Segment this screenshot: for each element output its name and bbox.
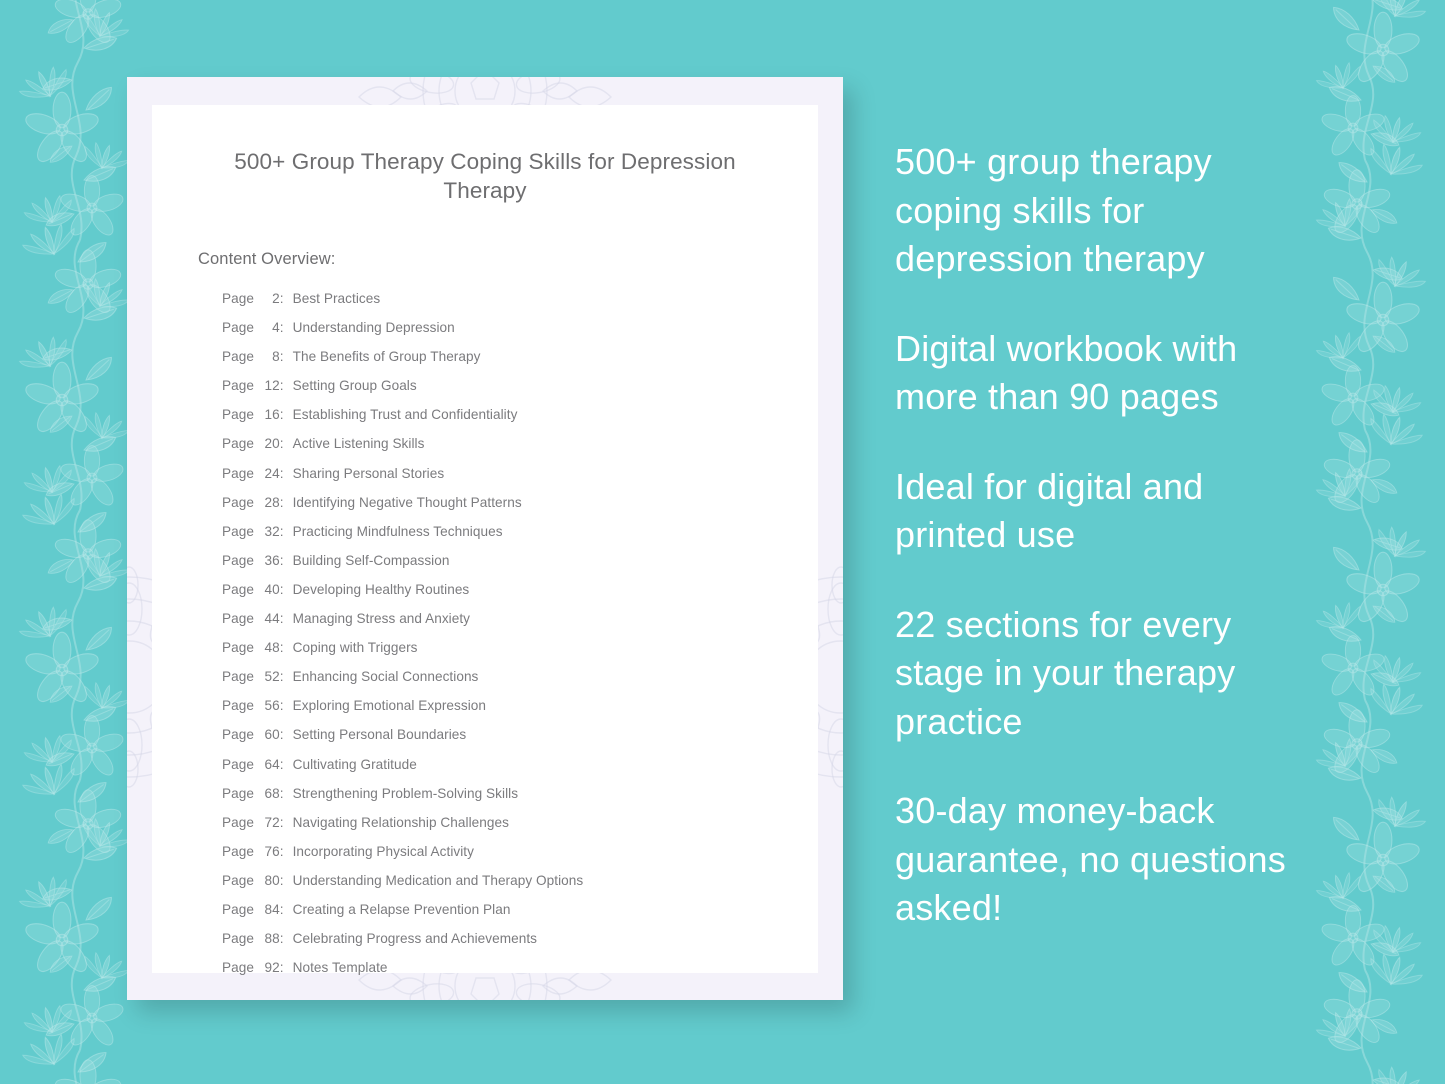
toc-row: Page 80:Understanding Medication and The…: [222, 873, 772, 902]
toc-colon: :: [280, 960, 284, 975]
toc-page-number: 32: [258, 524, 280, 539]
toc-row: Page 76:Incorporating Physical Activity: [222, 844, 772, 873]
toc-colon: :: [280, 582, 284, 597]
toc-colon: :: [280, 378, 284, 393]
toc-page-number: 8: [258, 349, 280, 364]
toc-page-number: 60: [258, 727, 280, 742]
toc-page-number: 4: [258, 320, 280, 335]
toc-page-word: Page: [222, 960, 258, 975]
toc-colon: :: [280, 931, 284, 946]
marketing-line: Digital workbook with more than 90 pages: [895, 325, 1315, 422]
toc-row: Page 8:The Benefits of Group Therapy: [222, 349, 772, 378]
toc-row: Page 32:Practicing Mindfulness Technique…: [222, 524, 772, 553]
toc-entry-title: The Benefits of Group Therapy: [293, 349, 481, 364]
toc-colon: :: [280, 844, 284, 859]
toc-page-number: 16: [258, 407, 280, 422]
toc-page-word: Page: [222, 611, 258, 626]
toc-page-word: Page: [222, 931, 258, 946]
toc-colon: :: [280, 466, 284, 481]
toc-colon: :: [280, 873, 284, 888]
toc-page-number: 44: [258, 611, 280, 626]
toc-entry-title: Coping with Triggers: [293, 640, 418, 655]
toc-row: Page 24:Sharing Personal Stories: [222, 466, 772, 495]
toc-entry-title: Cultivating Gratitude: [293, 757, 417, 772]
toc-row: Page 20:Active Listening Skills: [222, 436, 772, 465]
toc-colon: :: [280, 611, 284, 626]
marketing-line: 30-day money-back guarantee, no question…: [895, 787, 1315, 933]
toc-entry-title: Notes Template: [293, 960, 388, 975]
toc-page-number: 20: [258, 436, 280, 451]
toc-colon: :: [280, 669, 284, 684]
toc-entry-title: Active Listening Skills: [293, 436, 425, 451]
toc-page-word: Page: [222, 466, 258, 481]
toc-page-number: 88: [258, 931, 280, 946]
toc-colon: :: [280, 349, 284, 364]
toc-entry-title: Practicing Mindfulness Techniques: [293, 524, 503, 539]
marketing-line: 22 sections for every stage in your ther…: [895, 601, 1315, 747]
toc-row: Page 12:Setting Group Goals: [222, 378, 772, 407]
toc-page-number: 52: [258, 669, 280, 684]
toc-page-word: Page: [222, 349, 258, 364]
toc-row: Page 84:Creating a Relapse Prevention Pl…: [222, 902, 772, 931]
toc-colon: :: [280, 727, 284, 742]
toc-entry-title: Managing Stress and Anxiety: [293, 611, 470, 626]
page-title: 500+ Group Therapy Coping Skills for Dep…: [198, 147, 772, 205]
toc-row: Page 48:Coping with Triggers: [222, 640, 772, 669]
toc-colon: :: [280, 407, 284, 422]
toc-page-word: Page: [222, 786, 258, 801]
toc-row: Page 36:Building Self-Compassion: [222, 553, 772, 582]
toc-page-number: 12: [258, 378, 280, 393]
toc-colon: :: [280, 524, 284, 539]
toc-colon: :: [280, 815, 284, 830]
toc-colon: :: [280, 640, 284, 655]
toc-colon: :: [280, 291, 284, 306]
toc-page-word: Page: [222, 757, 258, 772]
toc-entry-title: Setting Group Goals: [293, 378, 417, 393]
toc-page-word: Page: [222, 640, 258, 655]
toc-entry-title: Understanding Depression: [293, 320, 455, 335]
toc-entry-title: Best Practices: [293, 291, 381, 306]
toc-colon: :: [280, 786, 284, 801]
toc-page-number: 2: [258, 291, 280, 306]
toc-row: Page 40:Developing Healthy Routines: [222, 582, 772, 611]
toc-page-number: 64: [258, 757, 280, 772]
toc-entry-title: Sharing Personal Stories: [293, 466, 445, 481]
toc-page-word: Page: [222, 873, 258, 888]
marketing-column: 500+ group therapy coping skills for dep…: [895, 138, 1315, 933]
toc-row: Page 56:Exploring Emotional Expression: [222, 698, 772, 727]
toc-page-word: Page: [222, 320, 258, 335]
toc-entry-title: Creating a Relapse Prevention Plan: [293, 902, 511, 917]
toc-colon: :: [280, 495, 284, 510]
toc-entry-title: Developing Healthy Routines: [293, 582, 470, 597]
toc-page-word: Page: [222, 407, 258, 422]
toc-page-word: Page: [222, 553, 258, 568]
toc-page-word: Page: [222, 844, 258, 859]
toc-entry-title: Understanding Medication and Therapy Opt…: [293, 873, 584, 888]
toc-page-number: 36: [258, 553, 280, 568]
toc-entry-title: Setting Personal Boundaries: [293, 727, 467, 742]
toc-page-word: Page: [222, 727, 258, 742]
toc-entry-title: Navigating Relationship Challenges: [293, 815, 509, 830]
toc-page-number: 72: [258, 815, 280, 830]
toc-page-number: 56: [258, 698, 280, 713]
toc-entry-title: Building Self-Compassion: [293, 553, 450, 568]
content-overview-label: Content Overview:: [198, 250, 772, 269]
toc-page-word: Page: [222, 698, 258, 713]
toc-page-number: 76: [258, 844, 280, 859]
toc-page-word: Page: [222, 524, 258, 539]
toc-row: Page 92:Notes Template: [222, 960, 772, 989]
toc-row: Page 88:Celebrating Progress and Achieve…: [222, 931, 772, 960]
toc-colon: :: [280, 436, 284, 451]
toc-entry-title: Establishing Trust and Confidentiality: [293, 407, 518, 422]
toc-page-word: Page: [222, 378, 258, 393]
toc-page-number: 28: [258, 495, 280, 510]
table-of-contents: Page 2:Best PracticesPage 4:Understandin…: [198, 291, 772, 989]
toc-entry-title: Identifying Negative Thought Patterns: [293, 495, 522, 510]
toc-colon: :: [280, 553, 284, 568]
toc-page-number: 40: [258, 582, 280, 597]
toc-entry-title: Exploring Emotional Expression: [293, 698, 486, 713]
toc-row: Page 4:Understanding Depression: [222, 320, 772, 349]
marketing-line: 500+ group therapy coping skills for dep…: [895, 138, 1315, 284]
product-card: 500+ Group Therapy Coping Skills for Dep…: [127, 77, 843, 1000]
toc-colon: :: [280, 320, 284, 335]
toc-row: Page 44:Managing Stress and Anxiety: [222, 611, 772, 640]
toc-page-word: Page: [222, 495, 258, 510]
toc-entry-title: Strengthening Problem-Solving Skills: [293, 786, 518, 801]
toc-row: Page 68:Strengthening Problem-Solving Sk…: [222, 786, 772, 815]
toc-entry-title: Incorporating Physical Activity: [293, 844, 474, 859]
marketing-line: Ideal for digital and printed use: [895, 463, 1315, 560]
toc-page-word: Page: [222, 815, 258, 830]
toc-page-number: 48: [258, 640, 280, 655]
toc-colon: :: [280, 757, 284, 772]
toc-page-number: 68: [258, 786, 280, 801]
toc-page-number: 92: [258, 960, 280, 975]
toc-colon: :: [280, 902, 284, 917]
toc-page-number: 80: [258, 873, 280, 888]
toc-entry-title: Enhancing Social Connections: [293, 669, 479, 684]
toc-page-word: Page: [222, 436, 258, 451]
toc-page-word: Page: [222, 669, 258, 684]
workbook-preview-page: 500+ Group Therapy Coping Skills for Dep…: [152, 105, 818, 973]
toc-entry-title: Celebrating Progress and Achievements: [293, 931, 537, 946]
toc-row: Page 64:Cultivating Gratitude: [222, 757, 772, 786]
toc-page-word: Page: [222, 902, 258, 917]
toc-page-word: Page: [222, 291, 258, 306]
toc-row: Page 16:Establishing Trust and Confident…: [222, 407, 772, 436]
toc-row: Page 28:Identifying Negative Thought Pat…: [222, 495, 772, 524]
toc-row: Page 2:Best Practices: [222, 291, 772, 320]
toc-row: Page 60:Setting Personal Boundaries: [222, 727, 772, 756]
toc-page-number: 24: [258, 466, 280, 481]
toc-page-number: 84: [258, 902, 280, 917]
toc-page-word: Page: [222, 582, 258, 597]
toc-row: Page 72:Navigating Relationship Challeng…: [222, 815, 772, 844]
toc-colon: :: [280, 698, 284, 713]
toc-row: Page 52:Enhancing Social Connections: [222, 669, 772, 698]
